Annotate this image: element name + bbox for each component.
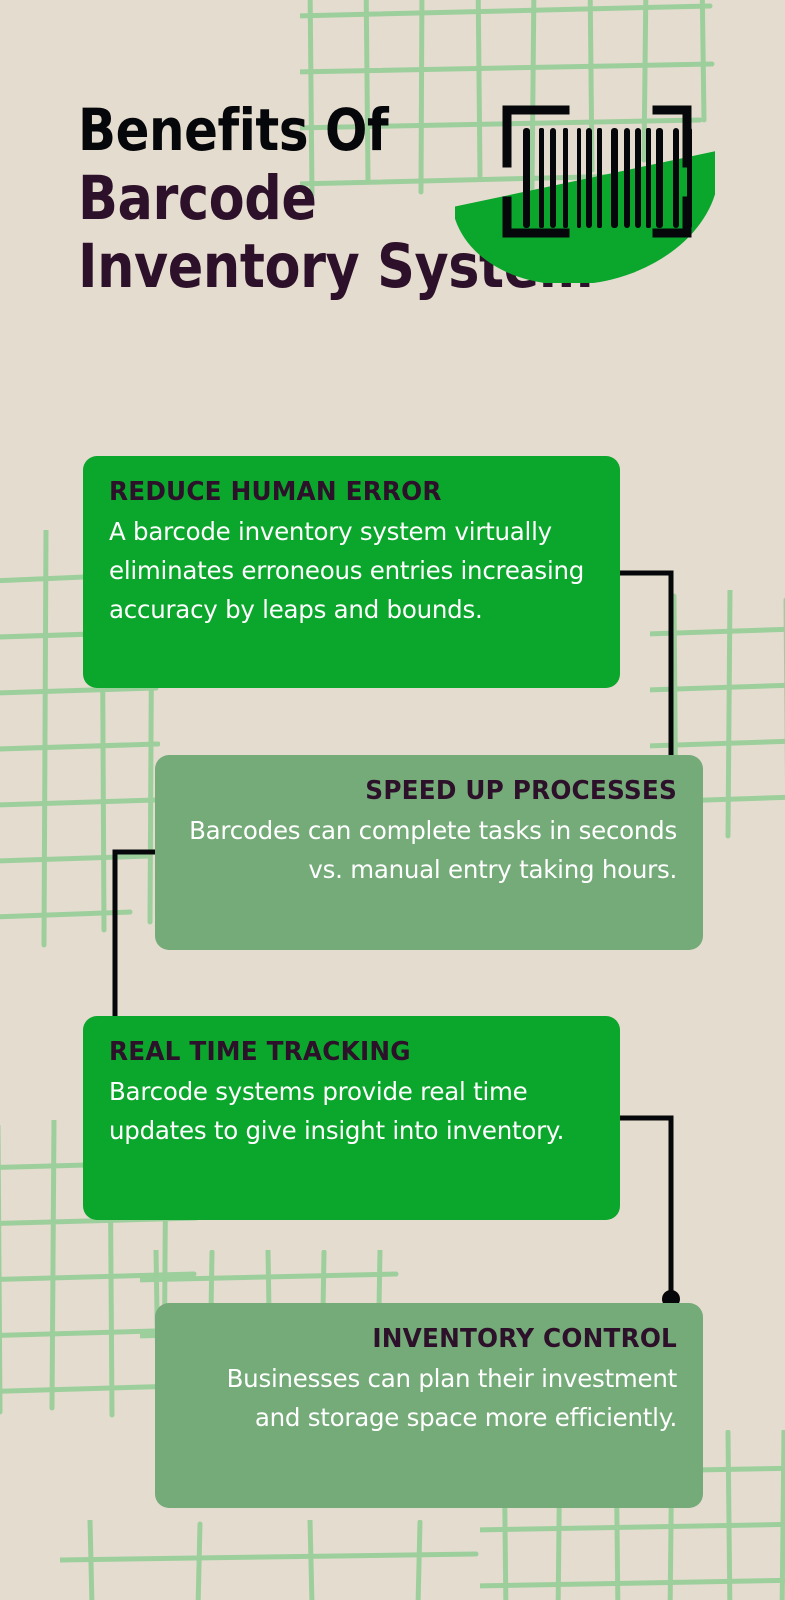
card-title: INVENTORY CONTROL	[196, 1325, 677, 1353]
infographic-poster: Benefits Of Barcode Inventory System	[0, 0, 785, 1600]
card-body: Businesses can plan their investment and…	[181, 1360, 677, 1438]
benefit-card-inventory-control[interactable]: INVENTORY CONTROL Businesses can plan th…	[155, 1303, 703, 1508]
card-title: REAL TIME TRACKING	[109, 1038, 579, 1066]
benefit-card-real-time-tracking[interactable]: REAL TIME TRACKING Barcode systems provi…	[83, 1016, 620, 1220]
card-body: A barcode inventory system virtually eli…	[109, 513, 594, 630]
card-body: Barcode systems provide real time update…	[109, 1073, 594, 1151]
benefit-card-speed-up-processes[interactable]: SPEED UP PROCESSES Barcodes can complete…	[155, 755, 703, 950]
card-title: SPEED UP PROCESSES	[196, 777, 677, 805]
card-title: REDUCE HUMAN ERROR	[109, 478, 579, 506]
barcode-scan-icon	[455, 83, 715, 283]
benefit-card-reduce-human-error[interactable]: REDUCE HUMAN ERROR A barcode inventory s…	[83, 456, 620, 688]
grid-pattern-bottom-edge	[60, 1520, 480, 1600]
card-body: Barcodes can complete tasks in seconds v…	[181, 812, 677, 890]
